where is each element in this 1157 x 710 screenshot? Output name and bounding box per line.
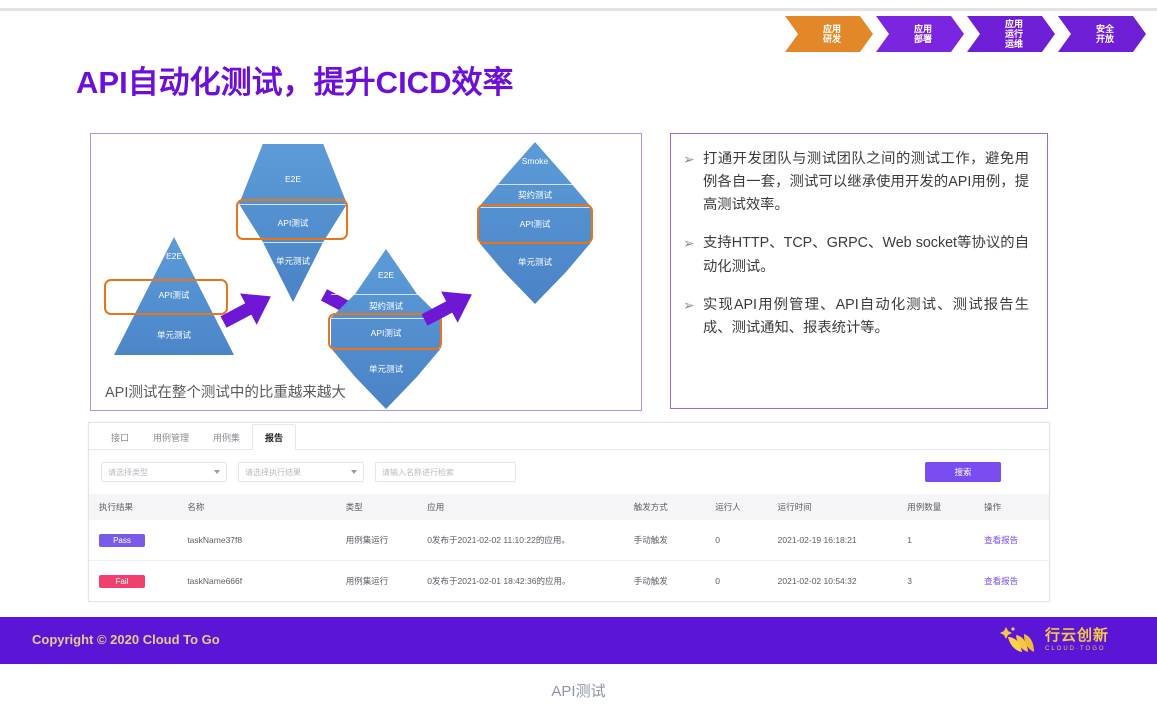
breadcrumb-step-line1: 安全 — [1096, 24, 1114, 34]
company-logo: 行云创新 CLOUD·TOGO — [998, 625, 1109, 655]
pyramid-band-e2e: E2E — [114, 237, 234, 276]
view-report-link[interactable]: 查看报告 — [974, 561, 1049, 602]
type-select-value: 请选择类型 — [108, 467, 148, 478]
column-header-type: 类型 — [336, 494, 418, 520]
chevron-down-icon — [214, 470, 220, 474]
diagram-shape-diamond-1: E2E 契约测试 API测试 单元测试 — [331, 249, 441, 409]
diamond-2-band-contract: 契约测试 — [479, 184, 591, 205]
cell-status: Pass — [89, 520, 177, 561]
logo-swoosh-icon — [998, 625, 1038, 655]
copyright-text: Copyright © 2020 Cloud To Go — [32, 632, 220, 647]
bullet-text: 支持HTTP、TCP、GRPC、Web socket等协议的自动化测试。 — [703, 232, 1029, 278]
breadcrumb-step-app-dev[interactable]: 应用 研发 — [785, 16, 873, 52]
table-row[interactable]: Fail taskName666f 用例集运行 0发布于2021-02-01 1… — [89, 561, 1049, 602]
breadcrumb-step-line1: 应用 — [1005, 19, 1023, 29]
bullet-marker-icon: ➢ — [683, 294, 703, 340]
cell-application: 0发布于2021-02-01 18:42:36的应用。 — [417, 561, 623, 602]
app-screenshot: 接口 用例管理 用例集 报告 请选择类型 请选择执行结果 请输入名称进行检索 搜… — [88, 422, 1050, 602]
diamond-2-band-unit: 单元测试 — [479, 246, 591, 278]
cell-type: 用例集运行 — [336, 561, 418, 602]
cell-run-time: 2021-02-19 16:18:21 — [768, 520, 898, 561]
tab-case-set[interactable]: 用例集 — [201, 425, 252, 449]
reports-table: 执行结果 名称 类型 应用 触发方式 运行人 运行时间 用例数量 操作 Pass… — [89, 494, 1049, 602]
top-divider — [0, 8, 1157, 11]
breadcrumb-step-line2: 部署 — [914, 34, 932, 44]
logo-text: 行云创新 CLOUD·TOGO — [1045, 628, 1109, 652]
app-tabs: 接口 用例管理 用例集 报告 — [89, 423, 1049, 450]
view-report-link[interactable]: 查看报告 — [974, 520, 1049, 561]
breadcrumb-step-app-ops[interactable]: 应用 运行 运维 — [967, 16, 1055, 52]
stage-breadcrumb: 应用 研发 应用 部署 应用 运行 运维 安全 开放 — [785, 16, 1149, 52]
table-header-row: 执行结果 名称 类型 应用 触发方式 运行人 运行时间 用例数量 操作 — [89, 494, 1049, 520]
hexagon-1-band-e2e: E2E — [239, 157, 347, 201]
diamond-1-band-e2e: E2E — [331, 257, 441, 292]
tab-reports[interactable]: 报告 — [252, 424, 296, 450]
bullet-marker-icon: ➢ — [683, 148, 703, 217]
diagram-caption: API测试在整个测试中的比重越来越大 — [105, 381, 346, 402]
slide-root: 应用 研发 应用 部署 应用 运行 运维 安全 开放 API自动化测试，提升CI… — [0, 0, 1157, 710]
slide-footer: Copyright © 2020 Cloud To Go 行云创新 CLOUD·… — [0, 617, 1157, 664]
pyramid-band-unit: 单元测试 — [114, 315, 234, 355]
breadcrumb-step-line1: 应用 — [914, 24, 932, 34]
breadcrumb-step-line2: 开放 — [1096, 34, 1114, 44]
column-header-operator: 运行人 — [705, 494, 767, 520]
column-header-name: 名称 — [177, 494, 335, 520]
column-header-application: 应用 — [417, 494, 623, 520]
breadcrumb-step-app-deploy[interactable]: 应用 部署 — [876, 16, 964, 52]
column-header-status: 执行结果 — [89, 494, 177, 520]
chevron-down-icon — [351, 470, 357, 474]
breadcrumb-step-line3: 运维 — [1005, 39, 1023, 49]
status-badge: Fail — [99, 575, 145, 588]
cell-name: taskName37f8 — [177, 520, 335, 561]
tab-case-management[interactable]: 用例管理 — [141, 425, 201, 449]
cell-case-count: 1 — [897, 520, 974, 561]
cell-type: 用例集运行 — [336, 520, 418, 561]
feature-bullets-panel: ➢ 打通开发团队与测试团队之间的测试工作，避免用例各自一套，测试可以继承使用开发… — [670, 133, 1048, 409]
logo-name-en: CLOUD·TOGO — [1045, 646, 1109, 652]
bullet-marker-icon: ➢ — [683, 232, 703, 278]
bullet-item: ➢ 实现API用例管理、API自动化测试、测试报告生成、测试通知、报表统计等。 — [683, 294, 1029, 340]
bullet-item: ➢ 打通开发团队与测试团队之间的测试工作，避免用例各自一套，测试可以继承使用开发… — [683, 148, 1029, 217]
cell-operator: 0 — [705, 561, 767, 602]
cell-name: taskName666f — [177, 561, 335, 602]
hexagon-1-band-api: API测试 — [239, 206, 347, 241]
test-pyramid-diagram: E2E API测试 单元测试 E2E API测试 单元测试 E2E 契约测试 A… — [90, 133, 642, 411]
column-header-actions: 操作 — [974, 494, 1049, 520]
cell-trigger: 手动触发 — [624, 520, 706, 561]
tab-interfaces[interactable]: 接口 — [99, 425, 141, 449]
bullet-text: 打通开发团队与测试团队之间的测试工作，避免用例各自一套，测试可以继承使用开发的A… — [703, 148, 1029, 217]
table-row[interactable]: Pass taskName37f8 用例集运行 0发布于2021-02-02 1… — [89, 520, 1049, 561]
column-header-trigger: 触发方式 — [624, 494, 706, 520]
type-select[interactable]: 请选择类型 — [101, 462, 227, 482]
result-select-value: 请选择执行结果 — [245, 467, 301, 478]
breadcrumb-step-line2: 研发 — [823, 34, 841, 44]
logo-name-cn: 行云创新 — [1045, 628, 1109, 643]
result-select[interactable]: 请选择执行结果 — [238, 462, 364, 482]
diamond-2-band-api: API测试 — [479, 208, 591, 239]
filter-bar: 请选择类型 请选择执行结果 请输入名称进行检索 搜索 — [89, 450, 1049, 494]
cell-trigger: 手动触发 — [624, 561, 706, 602]
diagram-shape-pyramid: E2E API测试 单元测试 — [114, 237, 234, 355]
cell-case-count: 3 — [897, 561, 974, 602]
page-title: API自动化测试，提升CICD效率 — [76, 57, 513, 102]
bullet-item: ➢ 支持HTTP、TCP、GRPC、Web socket等协议的自动化测试。 — [683, 232, 1029, 278]
breadcrumb-step-line1: 应用 — [823, 24, 841, 34]
cell-application: 0发布于2021-02-02 11:10:22的应用。 — [417, 520, 623, 561]
pyramid-band-api: API测试 — [114, 276, 234, 315]
column-header-run-time: 运行时间 — [768, 494, 898, 520]
breadcrumb-step-line2: 运行 — [1005, 29, 1023, 39]
status-badge: Pass — [99, 534, 145, 547]
bullet-text: 实现API用例管理、API自动化测试、测试报告生成、测试通知、报表统计等。 — [703, 294, 1029, 340]
diamond-2-band-smoke: Smoke — [479, 147, 591, 176]
slide-caption: API测试 — [0, 680, 1157, 701]
search-button[interactable]: 搜索 — [925, 462, 1001, 482]
column-header-case-count: 用例数量 — [897, 494, 974, 520]
diamond-1-band-api: API测试 — [331, 319, 441, 346]
cell-status: Fail — [89, 561, 177, 602]
cell-run-time: 2021-02-02 10:54:32 — [768, 561, 898, 602]
name-search-input[interactable]: 请输入名称进行检索 — [375, 462, 516, 482]
diamond-1-band-unit: 单元测试 — [331, 351, 441, 386]
name-search-placeholder: 请输入名称进行检索 — [382, 467, 454, 478]
diagram-shape-diamond-2: Smoke 契约测试 API测试 单元测试 — [479, 142, 591, 304]
cell-operator: 0 — [705, 520, 767, 561]
breadcrumb-step-security[interactable]: 安全 开放 — [1058, 16, 1146, 52]
